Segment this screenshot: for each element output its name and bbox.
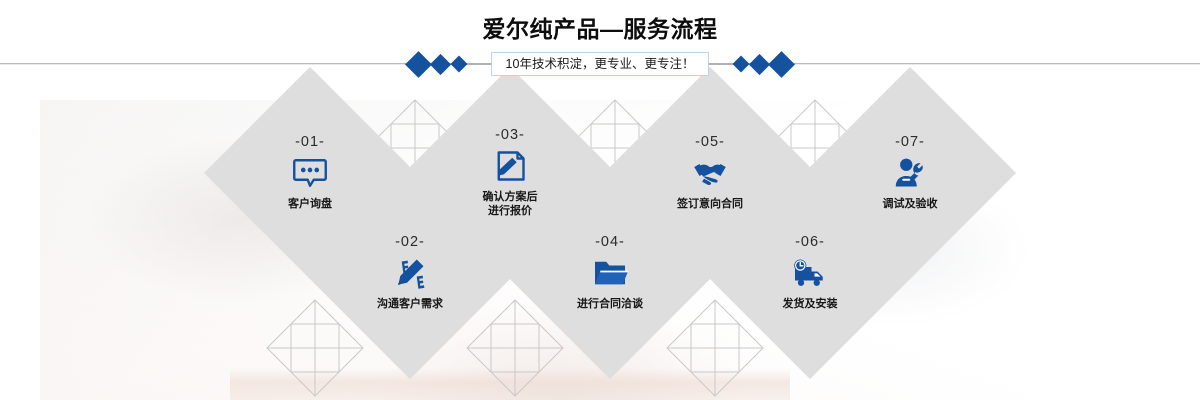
diamond-small-left bbox=[450, 56, 467, 73]
step-caption: 调试及验收 bbox=[883, 198, 938, 212]
step-number: -07- bbox=[895, 134, 925, 150]
open-folder-icon bbox=[592, 255, 628, 291]
technician-wrench-icon bbox=[892, 155, 928, 191]
step-caption: 进行合同洽谈 bbox=[577, 298, 643, 312]
diamond-small-right bbox=[733, 56, 750, 73]
delivery-truck-icon bbox=[792, 255, 828, 291]
step-caption: 沟通客户需求 bbox=[377, 298, 443, 312]
diamond-large-left bbox=[405, 51, 432, 78]
step-caption: 确认方案后 bbox=[483, 191, 538, 205]
step-caption: 发货及安装 bbox=[783, 298, 838, 312]
diamond-medium-left bbox=[429, 53, 450, 74]
diamond-large-right bbox=[769, 51, 796, 78]
page-title: 爱尔纯产品—服务流程 bbox=[0, 10, 1200, 44]
step-number: -04- bbox=[595, 234, 625, 250]
pen-write-icon bbox=[392, 255, 428, 291]
service-process-banner: 爱尔纯产品—服务流程 10年技术积淀，更专业、更专注！ bbox=[0, 0, 1200, 400]
process-step-07[interactable]: -07- 调试及验收 bbox=[835, 98, 985, 248]
step-caption: 签订意向合同 bbox=[677, 198, 743, 212]
left-diamond-group bbox=[409, 55, 491, 74]
process-flow: -01- 客户询盘 -02- bbox=[0, 78, 1200, 400]
step-number: -05- bbox=[695, 134, 725, 150]
connector-line-left bbox=[465, 63, 491, 65]
step-caption-line2: 进行报价 bbox=[488, 205, 532, 219]
chat-bubble-icon bbox=[292, 155, 328, 191]
handshake-icon bbox=[692, 155, 728, 191]
step-caption: 客户询盘 bbox=[288, 198, 332, 212]
step-number: -06- bbox=[795, 234, 825, 250]
step-content: -07- 调试及验收 bbox=[835, 98, 985, 248]
step-number: -01- bbox=[295, 134, 325, 150]
document-pencil-icon bbox=[492, 148, 528, 184]
step-number: -03- bbox=[495, 127, 525, 143]
right-diamond-group bbox=[709, 55, 791, 74]
subtitle-badge: 10年技术积淀，更专业、更专注！ bbox=[491, 52, 710, 76]
subtitle-row: 10年技术积淀，更专业、更专注！ bbox=[0, 52, 1200, 76]
step-number: -02- bbox=[395, 234, 425, 250]
